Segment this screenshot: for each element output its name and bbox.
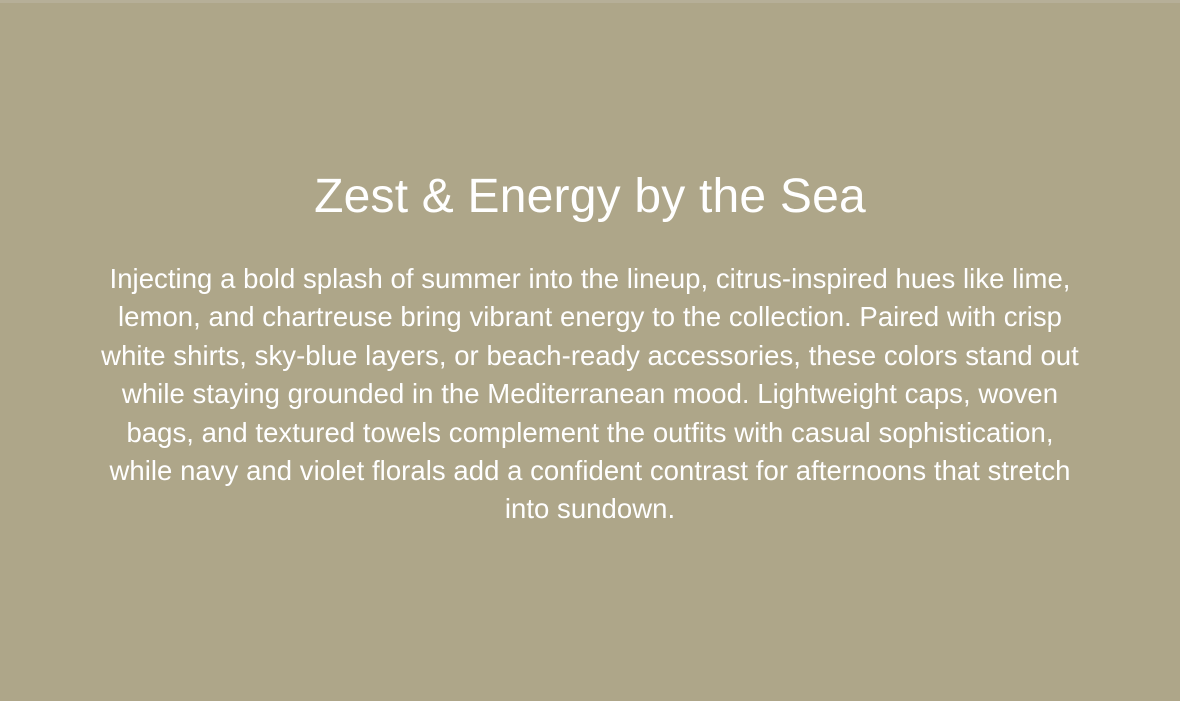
card-content: Zest & Energy by the Sea Injecting a bol… [0,0,1180,701]
body-paragraph: Injecting a bold splash of summer into t… [92,260,1088,529]
text-card-canvas: Zest & Energy by the Sea Injecting a bol… [0,0,1180,701]
page-title: Zest & Energy by the Sea [70,168,1110,226]
